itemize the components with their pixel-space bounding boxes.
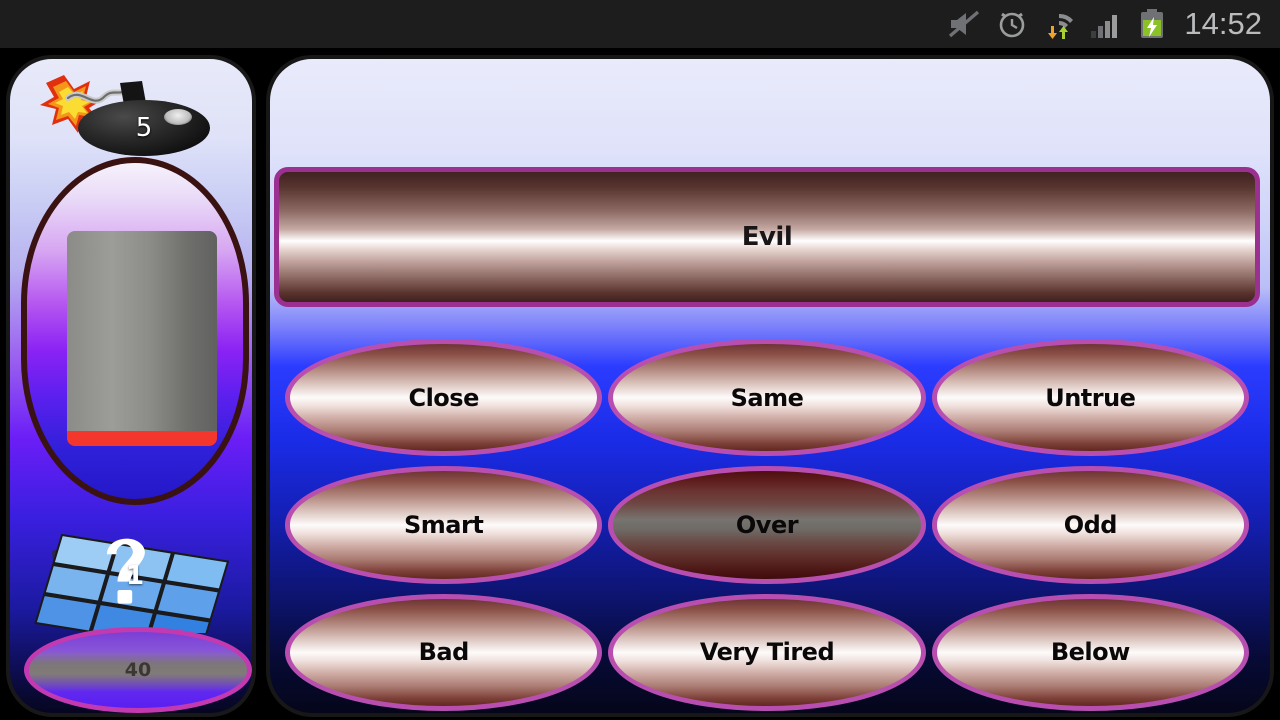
answer-label: Smart [404, 511, 483, 539]
sidebar-panel: 5 [6, 55, 256, 717]
answer-button-9[interactable]: Below [932, 594, 1249, 711]
clock-label: 14:52 [1184, 6, 1262, 42]
answer-button-5[interactable]: Over [608, 466, 925, 583]
battery-charging-icon [1138, 8, 1166, 40]
question-header: Evil [274, 167, 1260, 307]
answer-grid: Close Same Untrue Smart Over Odd Bad Ver… [285, 339, 1249, 711]
wifi-transfer-icon [1042, 8, 1076, 40]
answer-label: Bad [419, 638, 469, 666]
bomb-lives-indicator: 5 [34, 71, 234, 161]
answer-label: Close [408, 384, 478, 412]
timer-bar [67, 231, 217, 446]
answer-label: Over [736, 511, 798, 539]
answer-button-2[interactable]: Same [608, 339, 925, 456]
answer-button-1[interactable]: Close [285, 339, 602, 456]
answer-label: Very Tired [700, 638, 834, 666]
status-bar: 14:52 [0, 0, 1280, 48]
timer-bar-fill [67, 231, 217, 431]
signal-bars-icon [1090, 9, 1124, 39]
question-word: Evil [742, 222, 793, 252]
answer-button-3[interactable]: Untrue [932, 339, 1249, 456]
hint-count-label: 1 [126, 561, 144, 591]
answer-button-7[interactable]: Bad [285, 594, 602, 711]
answer-button-6[interactable]: Odd [932, 466, 1249, 583]
timer-bar-warning [67, 431, 217, 446]
answer-button-4[interactable]: Smart [285, 466, 602, 583]
mute-icon [948, 9, 982, 39]
round-timer-gauge [21, 157, 249, 505]
main-panel: Evil Close Same Untrue Smart Over Odd Ba… [266, 55, 1274, 717]
answer-button-8[interactable]: Very Tired [608, 594, 925, 711]
hint-tiles-button[interactable]: 1 [28, 521, 242, 633]
bomb-count-label: 5 [78, 100, 210, 156]
answer-label: Odd [1064, 511, 1117, 539]
score-value-label: 40 [125, 659, 151, 681]
alarm-clock-icon [996, 8, 1028, 40]
answer-label: Below [1051, 638, 1130, 666]
answer-label: Untrue [1045, 384, 1135, 412]
game-stage: 5 [0, 48, 1280, 720]
score-oval[interactable]: 40 [24, 627, 252, 713]
answer-label: Same [731, 384, 804, 412]
